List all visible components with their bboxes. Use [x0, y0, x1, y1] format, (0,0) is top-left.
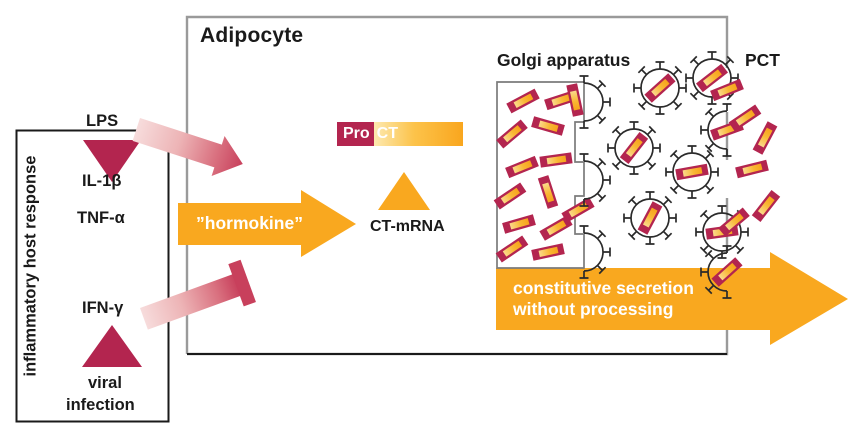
ct-mrna-label: CT-mRNA	[370, 218, 445, 236]
proct-pro-segment: Pro	[337, 126, 374, 142]
hormokine-arrow	[178, 190, 356, 257]
stimulus-label-tnfa: TNF-α	[77, 209, 125, 228]
stimulus-label-viral: viral	[88, 374, 122, 393]
stimulus-label-infection: infection	[66, 396, 135, 415]
proct-ct-segment: CT	[374, 122, 463, 146]
ct-mrna-triangle	[378, 172, 430, 210]
diagram-canvas: Adipocyte Golgi apparatus PCT inflammato…	[0, 0, 864, 441]
proct-bar: Pro CT	[337, 122, 463, 146]
golgi-apparatus-label: Golgi apparatus	[497, 50, 630, 71]
stimulus-label-ifng: IFN-γ	[82, 299, 123, 318]
host-response-axis-label: inflammatory host response	[22, 157, 41, 377]
stimulus-label-il1b: IL-1β	[82, 172, 121, 191]
pct-label: PCT	[745, 50, 780, 71]
stimulus-label-lps: LPS	[86, 112, 118, 131]
page-title: Adipocyte	[200, 24, 303, 48]
